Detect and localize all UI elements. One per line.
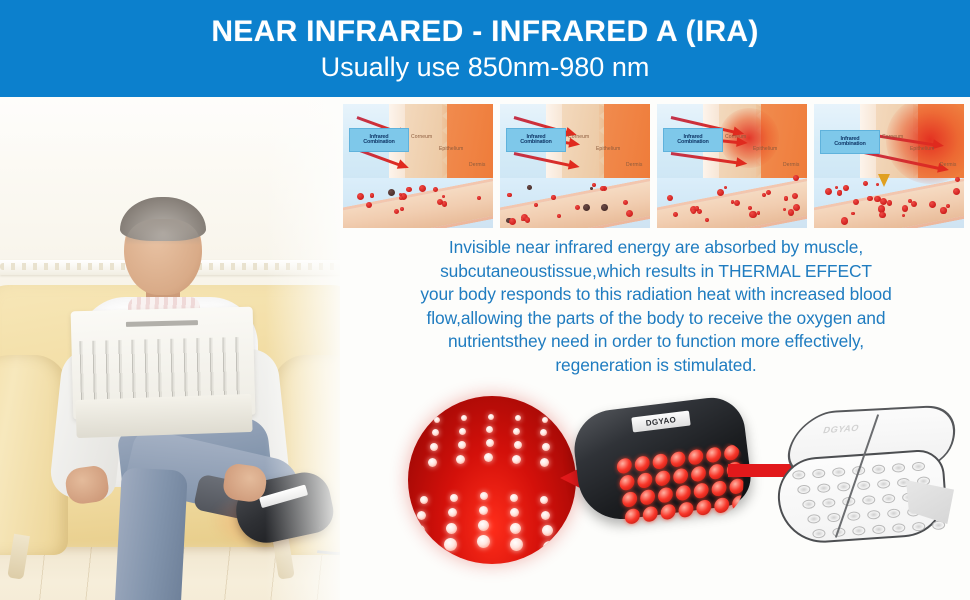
led-light-point [540,496,548,504]
device-led [643,506,658,523]
device-led [678,501,693,518]
penetration-panel: InfraredCombinationCorneumEpitheliumDerm… [500,104,650,228]
device-led [688,449,703,466]
led-light-point [510,508,519,517]
red-blood-cell [749,211,757,219]
red-blood-cell [509,218,516,225]
red-blood-cell [600,186,605,191]
led-light-point [417,511,426,520]
label-word: Combination [834,142,865,148]
paragraph-line: your body responds to this radiation hea… [350,283,962,307]
led-light-point [456,455,465,464]
device-led [625,508,640,525]
red-blood-cell [521,218,524,221]
led-light-point [515,415,521,421]
transparent-structure-diagram: DGYAO [772,402,960,552]
red-blood-cell [867,196,873,202]
infrared-combination-label: InfraredCombination [506,128,566,152]
diagram-led-pad [847,511,861,521]
diagram-led-pad [892,463,906,473]
device-led [706,446,721,463]
red-blood-cell [757,211,761,215]
device-led [732,495,744,512]
led-light-point [432,429,439,436]
diagram-led-pad [812,529,826,539]
paragraph-line: Invisible near infrared energy are absor… [350,236,962,260]
led-light-point [430,443,438,451]
newspaper-lower-fold [75,394,252,438]
diagram-led-pad [857,480,871,490]
red-blood-cell [370,193,375,198]
blood-cell-dark [601,204,608,211]
diagram-led-pad [872,524,886,534]
label-word: Combination [363,140,394,146]
device-led-panel [612,440,744,531]
led-light-point [420,496,428,504]
infrared-combination-label: InfraredCombination [349,128,409,152]
led-light-point [461,415,467,421]
page-title: NEAR INFRARED - INFRARED A (IRA) [211,16,758,48]
red-blood-cell [853,199,859,205]
skin-layer-label: Dermis [783,162,799,168]
penetration-diagram-strip: InfraredCombinationCorneumEpitheliumDerm… [343,104,970,228]
diagram-led-pad [822,498,836,508]
red-blood-cell [953,188,960,195]
led-light-point [434,417,440,423]
diagram-led-pad [797,485,811,495]
red-blood-cell [592,183,596,187]
diagram-led-pad [872,464,886,474]
led-light-point [510,538,523,551]
diagram-led-pad [862,495,876,505]
led-light-point [484,453,493,462]
led-light-point [480,492,488,500]
diagram-led-pad [832,467,846,477]
led-light-point [541,511,550,520]
diagram-led-pad [882,494,896,504]
layer-epithelium [405,104,447,178]
led-light-point [542,443,550,451]
red-blood-cell [507,193,511,197]
black-foot-massager-device: DGYAO [576,404,748,528]
device-led [661,503,676,520]
led-light-point [540,429,547,436]
diagram-led-pad [892,523,906,533]
device-led [655,470,670,487]
device-led [714,497,729,514]
skin-layer-label: Dermis [469,162,485,168]
infographic-banner-page: NEAR INFRARED - INFRARED A (IRA) Usually… [0,0,970,600]
led-light-point [478,520,489,531]
red-blood-cell [902,205,908,211]
led-light-point [477,535,490,548]
page-subtitle: Usually use 850nm-980 nm [321,53,650,83]
diagram-led-pad [802,499,816,509]
device-led [658,487,673,504]
skin-layer-label: Epithelium [753,146,777,152]
brand-name: DGYAO [645,415,676,428]
paragraph-line: regeneration is stimulated. [350,354,962,378]
blood-cell-dark [590,187,593,190]
red-blood-cell [717,189,724,196]
massager-brand-tag [259,484,308,508]
device-led [637,472,652,489]
led-light-point [444,538,457,551]
penetration-panel: InfraredCombinationCorneumEpitheliumDerm… [343,104,493,228]
red-led-closeup-circle [408,396,576,564]
skin-layer-label: Epithelium [439,146,463,152]
diagram-led-pad [807,514,821,524]
paragraph-line: flow,allowing the parts of the body to r… [350,307,962,331]
penetration-panel: InfraredCombinationCorneumEpitheliumDerm… [657,104,807,228]
red-blood-cell [406,187,411,192]
led-light-point [513,428,520,435]
led-light-point [414,525,425,536]
led-light-point [458,441,466,449]
skin-layer-label: Epithelium [596,146,620,152]
led-light-point [543,541,556,554]
diagram-led-pad [887,508,901,518]
device-led [635,455,650,472]
led-light-point [488,414,494,420]
led-light-point [446,523,457,534]
red-blood-cell [863,181,868,186]
led-light-point [479,506,488,515]
device-led [711,480,726,497]
red-blood-cell [400,207,404,211]
label-word: Combination [677,140,708,146]
lifestyle-photo [0,97,340,600]
red-blood-cell [734,200,740,206]
skin-layer-label: Corneum [411,134,432,140]
device-led [673,468,688,485]
device-led [676,484,691,501]
blood-cell-dark [527,185,532,190]
diagram-led-pad [852,526,866,536]
diagram-led-pad [867,510,881,520]
skin-layer-label: Dermis [626,162,642,168]
skin-layer-label: Epithelium [910,146,934,152]
led-light-point [510,523,521,534]
device-led [696,499,711,516]
diagram-led-pad [877,479,891,489]
led-light-point [459,428,466,435]
device-led [640,489,655,506]
diagram-led-pad [912,522,926,532]
diagram-led-pad [837,482,851,492]
skin-layer-label: Corneum [568,134,589,140]
paragraph-line: nutrientsthey need in order to function … [350,330,962,354]
device-led [709,463,724,480]
infrared-combination-label: InfraredCombination [663,128,723,152]
led-light-point [448,508,457,517]
red-blood-cell [940,207,946,213]
diagram-led-pad [812,469,826,479]
thermal-penetration-arrow [878,174,890,187]
diagram-led-pad [827,513,841,523]
led-light-point [510,494,518,502]
device-led [622,491,637,508]
person-lower-leg [114,467,188,600]
red-blood-cell [879,212,885,218]
penetration-panel: InfraredCombinationCorneumEpitheliumDerm… [814,104,964,228]
diagram-led-pad [912,462,926,472]
led-light-point [514,441,522,449]
red-blood-cell [626,210,633,217]
device-led [653,453,668,470]
device-led [694,482,709,499]
led-light-point [542,417,548,423]
red-blood-cell [477,196,481,200]
skin-layer-label: Corneum [725,134,746,140]
device-led [691,465,706,482]
led-light-point [512,455,521,464]
diagram-led-pad [817,483,831,493]
led-light-point [428,458,437,467]
label-word: Combination [520,140,551,146]
device-led [670,451,685,468]
red-blood-cell [433,187,438,192]
red-blood-cell [667,195,673,201]
skin-layer-label: Dermis [940,162,956,168]
device-led [619,474,634,491]
led-light-point [486,426,493,433]
led-light-point [486,439,494,447]
description-paragraph: Invisible near infrared energy are absor… [350,236,962,377]
header-banner: NEAR INFRARED - INFRARED A (IRA) Usually… [0,0,970,97]
skin-layer-label: Corneum [882,134,903,140]
red-blood-cell [841,217,848,224]
product-showcase: DGYAO DGYAO [340,388,970,600]
led-light-point [540,458,549,467]
red-blood-cell [843,185,849,191]
led-light-point [450,494,458,502]
paragraph-line: subcutaneoustissue,which results in THER… [350,260,962,284]
red-blood-cell [837,190,842,195]
red-blood-cell [788,209,795,216]
infrared-combination-label: InfraredCombination [820,130,880,154]
led-light-point [542,525,553,536]
diagram-led-pad [792,470,806,480]
red-blood-cell [551,195,556,200]
newspaper-masthead [126,320,198,327]
device-led [617,457,632,474]
